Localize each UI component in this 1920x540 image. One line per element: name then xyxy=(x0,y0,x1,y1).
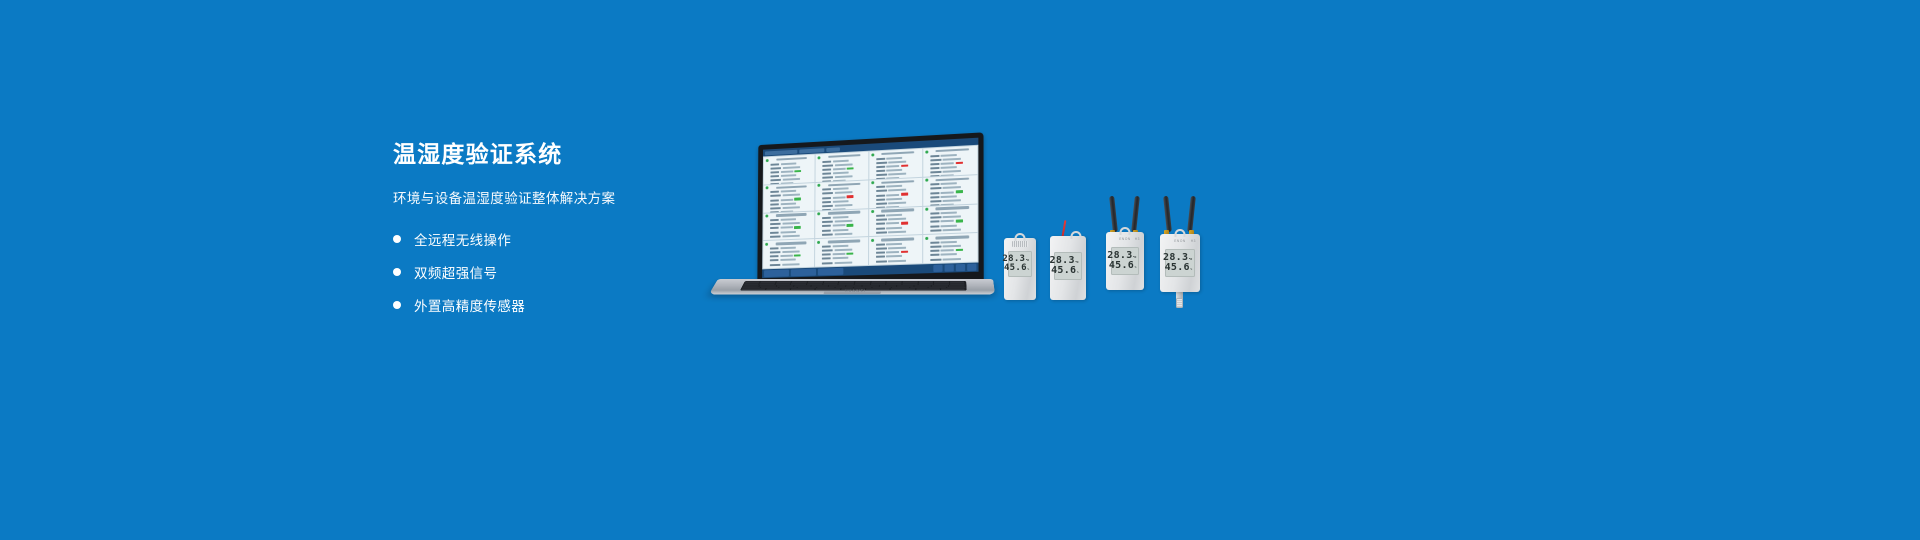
device-body: ENON H3 28.3 ℃ 45.6 % xyxy=(1106,232,1144,290)
lcd-temperature-unit: ℃ xyxy=(1189,258,1192,261)
keyboard-key xyxy=(941,289,965,290)
reading-status-badge xyxy=(956,161,963,164)
reading-value xyxy=(781,162,796,165)
monitor-card[interactable] xyxy=(923,233,978,263)
reading-value xyxy=(886,194,899,197)
keyboard-key xyxy=(916,289,940,290)
monitor-card-readings xyxy=(817,243,865,266)
reading-label xyxy=(876,161,887,164)
reading-status-badge xyxy=(956,190,963,193)
reading-value xyxy=(780,259,795,261)
reading-value xyxy=(782,263,799,266)
monitor-card-title xyxy=(881,209,914,213)
lcd-humidity-unit: % xyxy=(1190,268,1192,271)
reading-value xyxy=(780,246,795,249)
laptop-lid xyxy=(757,132,983,287)
reading-value xyxy=(833,228,849,231)
bullet-dot-icon xyxy=(393,235,401,243)
device-model-label: H3 xyxy=(1106,237,1144,241)
reading-label xyxy=(930,216,941,218)
reading-value xyxy=(782,206,799,209)
monitor-card[interactable] xyxy=(816,180,868,210)
reading-label xyxy=(823,164,834,167)
monitor-card-readings xyxy=(765,217,812,240)
reading-label xyxy=(930,221,939,223)
reading-label xyxy=(822,225,831,227)
reading-label xyxy=(930,196,939,198)
reading-value xyxy=(886,198,902,201)
page-subtitle: 环境与设备温湿度验证整体解决方案 xyxy=(393,187,723,207)
monitor-card-readings xyxy=(871,213,920,237)
reading-label xyxy=(876,256,885,258)
reading-label xyxy=(930,163,939,165)
status-dot-icon xyxy=(871,210,874,213)
reading-label xyxy=(876,227,885,229)
reading-status-badge xyxy=(847,195,854,198)
reading-value xyxy=(886,185,902,188)
reading-label xyxy=(822,262,833,264)
pagination-button[interactable] xyxy=(956,264,965,271)
monitor-card[interactable] xyxy=(923,146,977,177)
reading-label xyxy=(822,233,833,235)
reading-value xyxy=(780,231,795,234)
feature-label: 全远程无线操作 xyxy=(414,229,511,249)
hanging-hook-icon xyxy=(1175,229,1186,237)
monitor-card[interactable] xyxy=(869,178,922,208)
feature-item-sensor: 外置高精度传感器 xyxy=(393,295,723,315)
reading-label xyxy=(930,250,939,252)
reading-label xyxy=(876,231,887,233)
monitor-card[interactable] xyxy=(869,206,922,236)
feature-item-remote: 全远程无线操作 xyxy=(393,229,723,249)
monitor-card-readings xyxy=(925,210,975,234)
reading-value xyxy=(780,174,795,177)
hanging-hook-icon xyxy=(1015,233,1026,241)
monitor-card-title xyxy=(936,206,970,210)
keyboard-key xyxy=(866,289,890,290)
reading-label xyxy=(930,187,941,190)
reading-label xyxy=(930,171,941,174)
antenna-left xyxy=(1163,196,1171,232)
feature-label: 外置高精度传感器 xyxy=(414,295,525,315)
status-dot-icon xyxy=(817,241,820,244)
reading-value xyxy=(832,245,848,248)
reading-label xyxy=(770,255,779,257)
monitor-card[interactable] xyxy=(763,211,814,240)
reading-value xyxy=(834,220,852,223)
reading-label xyxy=(770,231,779,233)
status-dot-icon xyxy=(766,159,769,162)
reading-label xyxy=(770,203,779,205)
monitor-card-readings xyxy=(871,184,920,208)
reading-status-badge xyxy=(794,170,801,173)
reading-value xyxy=(886,222,899,225)
device-model-label: H3 xyxy=(1160,239,1200,243)
reading-value xyxy=(888,247,906,250)
keyboard-key xyxy=(791,289,815,290)
reading-label xyxy=(822,188,831,190)
reading-label xyxy=(822,258,831,260)
pagination-button[interactable] xyxy=(945,265,954,272)
reading-label xyxy=(770,251,781,253)
toolbar-action-button[interactable] xyxy=(764,270,789,277)
reading-label xyxy=(876,198,885,200)
reading-label xyxy=(770,263,781,265)
reading-value xyxy=(835,163,853,166)
reading-value xyxy=(941,253,957,256)
monitor-card-readings xyxy=(925,239,975,263)
reading-value xyxy=(834,232,852,235)
reading-label xyxy=(930,229,941,231)
reading-label xyxy=(822,197,831,199)
reading-label xyxy=(822,245,831,247)
antenna-left xyxy=(1109,196,1117,232)
reading-status-badge xyxy=(901,222,908,225)
reading-value xyxy=(833,224,846,226)
reading-value xyxy=(888,218,906,221)
status-dot-icon xyxy=(818,184,821,187)
lcd-temperature-unit: ℃ xyxy=(1075,261,1078,264)
reading-value xyxy=(782,166,799,169)
reading-value xyxy=(782,178,799,181)
reading-value xyxy=(833,168,846,171)
reading-value xyxy=(888,189,906,192)
reading-label xyxy=(770,207,781,209)
reading-status-badge xyxy=(956,249,963,252)
monitor-card-readings xyxy=(817,215,865,239)
reading-value xyxy=(886,169,902,172)
reading-value xyxy=(782,194,799,197)
monitor-card-readings xyxy=(818,158,866,182)
reading-value xyxy=(832,253,845,255)
reading-value xyxy=(886,243,902,246)
reading-label xyxy=(770,223,781,225)
bullet-dot-icon xyxy=(393,268,401,276)
reading-label xyxy=(876,194,885,196)
monitor-card-title xyxy=(775,241,806,245)
reading-label xyxy=(876,223,885,225)
reading-value xyxy=(941,220,954,223)
reading-value xyxy=(941,249,954,251)
keyboard-key xyxy=(891,289,915,290)
reading-label xyxy=(770,175,779,177)
monitor-card[interactable] xyxy=(869,235,922,265)
reading-status-badge xyxy=(847,224,854,227)
lcd-humidity-value: 45.6 xyxy=(1165,263,1190,273)
reading-status-badge xyxy=(794,226,801,229)
keyboard-key xyxy=(766,289,790,290)
reading-value xyxy=(941,191,954,194)
reading-label xyxy=(930,167,939,169)
reading-label xyxy=(770,199,779,201)
reading-label xyxy=(822,249,833,251)
reading-value xyxy=(941,224,957,227)
device-lcd-display: 28.3 ℃ 45.6 % xyxy=(1054,252,1081,280)
keyboard-key xyxy=(741,289,766,290)
titlebar-menu-chip[interactable] xyxy=(826,147,840,152)
monitor-card[interactable] xyxy=(815,209,867,239)
monitor-card[interactable] xyxy=(763,239,814,268)
reading-label xyxy=(770,191,779,193)
lcd-humidity-line: 45.6 % xyxy=(1114,261,1137,271)
reading-value xyxy=(886,255,902,258)
monitor-card-readings xyxy=(765,189,812,212)
pagination-button[interactable] xyxy=(967,264,976,271)
lcd-humidity-line: 45.6 % xyxy=(1057,266,1078,276)
reading-label xyxy=(822,205,833,207)
reading-value xyxy=(833,159,849,162)
device-probe-logger: 28.3 ℃ 45.6 % xyxy=(1050,236,1086,300)
status-dot-icon xyxy=(871,181,874,184)
reading-label xyxy=(822,253,831,255)
reading-label xyxy=(930,254,939,256)
reading-value xyxy=(782,235,799,238)
device-lcd-display: 28.3 ℃ 45.6 % xyxy=(1111,247,1140,275)
reading-status-badge xyxy=(794,198,801,201)
reading-value xyxy=(782,250,799,253)
reading-value xyxy=(834,249,852,252)
reading-value xyxy=(782,222,799,225)
status-dot-icon xyxy=(925,179,928,182)
reading-value xyxy=(943,157,961,160)
reading-status-badge xyxy=(901,193,908,196)
toolbar-action-button[interactable] xyxy=(818,268,843,275)
monitor-card[interactable] xyxy=(816,152,868,182)
reading-label xyxy=(823,160,832,162)
titlebar-menu-chip[interactable] xyxy=(799,148,824,153)
reading-value xyxy=(886,251,899,253)
lcd-humidity-unit: % xyxy=(1027,268,1029,271)
reading-value xyxy=(941,153,957,156)
reading-label xyxy=(876,157,885,159)
reading-value xyxy=(835,204,853,207)
reading-value xyxy=(834,261,852,264)
reading-status-badge xyxy=(847,252,854,255)
device-body: 28.3 ℃ 45.6 % xyxy=(1050,236,1086,300)
monitor-card-grid xyxy=(762,145,978,270)
reading-value xyxy=(780,227,792,229)
reading-value xyxy=(941,182,957,185)
pagination-button[interactable] xyxy=(933,265,942,272)
reading-value xyxy=(886,214,902,217)
device-dual-antenna-logger-2: ENON H3 28.3 ℃ 45.6 % xyxy=(1160,234,1200,308)
reading-label xyxy=(930,159,941,162)
reading-value xyxy=(780,170,792,173)
reading-value xyxy=(888,259,906,262)
reading-value xyxy=(780,218,795,221)
monitor-card[interactable] xyxy=(923,204,977,234)
reading-value xyxy=(833,200,849,203)
monitor-card[interactable] xyxy=(815,237,867,266)
reading-value xyxy=(833,172,849,175)
device-lcd-display: 28.3 ℃ 45.6 % xyxy=(1008,251,1032,277)
status-dot-icon xyxy=(925,150,928,153)
reading-value xyxy=(943,216,961,219)
monitor-card[interactable] xyxy=(764,183,815,212)
laptop-screen xyxy=(762,138,978,278)
reading-label xyxy=(876,247,887,249)
monitor-card-readings xyxy=(925,152,975,177)
antenna-right xyxy=(1187,196,1195,232)
reading-label xyxy=(822,229,831,231)
lcd-humidity-value: 45.6 xyxy=(1004,264,1027,273)
reading-value xyxy=(833,196,846,199)
reading-label xyxy=(930,183,939,185)
bullet-dot-icon xyxy=(393,301,401,309)
reading-label xyxy=(876,215,885,217)
reading-value xyxy=(941,162,954,165)
status-dot-icon xyxy=(817,212,820,215)
reading-label xyxy=(876,260,887,262)
keyboard-key xyxy=(816,289,840,290)
lcd-humidity-line: 45.6 % xyxy=(1168,263,1192,273)
reading-label xyxy=(770,219,779,221)
status-dot-icon xyxy=(765,243,768,246)
reading-value xyxy=(943,245,961,248)
reading-value xyxy=(941,166,957,169)
monitor-card[interactable] xyxy=(764,155,815,185)
feature-list: 全远程无线操作 双频超强信号 外置高精度传感器 xyxy=(393,229,723,315)
reading-label xyxy=(770,179,780,181)
reading-label xyxy=(822,201,831,203)
laptop-product-image: HUAWEI xyxy=(718,138,993,300)
reading-label xyxy=(930,245,941,247)
status-dot-icon xyxy=(925,208,928,211)
monitor-card-readings xyxy=(818,186,866,210)
bottom-probe-filter-cap xyxy=(1176,298,1183,308)
reading-value xyxy=(833,188,849,191)
laptop-brand-label: HUAWEI xyxy=(845,288,867,293)
reading-label xyxy=(876,170,885,172)
reading-value xyxy=(941,195,957,198)
feature-item-dualband: 双频超强信号 xyxy=(393,262,723,282)
monitor-card-title xyxy=(828,211,860,215)
reading-value xyxy=(780,198,792,201)
reading-label xyxy=(770,247,779,249)
device-compact-logger: 28.3 ℃ 45.6 % xyxy=(1004,238,1036,300)
reading-value xyxy=(888,173,906,176)
device-lcd-display: 28.3 ℃ 45.6 % xyxy=(1165,249,1195,277)
monitor-card[interactable] xyxy=(869,149,922,179)
reading-label xyxy=(771,163,780,165)
hero-banner: 温湿度验证系统 环境与设备温湿度验证整体解决方案 全远程无线操作 双频超强信号 … xyxy=(0,0,1920,540)
monitor-card[interactable] xyxy=(923,175,977,205)
lcd-temperature-unit: ℃ xyxy=(1133,256,1136,259)
reading-label xyxy=(930,225,939,227)
device-body: ENON H3 28.3 ℃ 45.6 % xyxy=(1160,234,1200,292)
monitor-card-title xyxy=(828,239,860,243)
reading-label xyxy=(770,227,779,229)
monitor-card-title xyxy=(775,213,806,217)
reading-label xyxy=(876,243,885,245)
reading-value xyxy=(886,226,902,229)
reading-label xyxy=(876,166,885,168)
reading-label xyxy=(823,168,832,170)
sensor-grille-icon xyxy=(1012,241,1028,247)
reading-value xyxy=(943,257,961,260)
reading-label xyxy=(822,221,833,223)
monitor-card-title xyxy=(881,237,914,241)
hero-text-block: 温湿度验证系统 环境与设备温湿度验证整体解决方案 全远程无线操作 双频超强信号 … xyxy=(393,140,723,328)
reading-label xyxy=(930,200,941,203)
device-body: 28.3 ℃ 45.6 % xyxy=(1004,238,1036,300)
reading-value xyxy=(888,160,906,163)
toolbar-action-button[interactable] xyxy=(791,269,816,276)
status-dot-icon xyxy=(766,187,769,190)
reading-label xyxy=(770,167,780,169)
reading-status-badge xyxy=(956,219,963,222)
antenna-right xyxy=(1131,196,1139,232)
reading-value xyxy=(941,212,957,215)
monitor-card-title xyxy=(936,235,970,239)
reading-label xyxy=(823,176,834,178)
lcd-humidity-unit: % xyxy=(1077,271,1079,274)
reading-label xyxy=(823,172,832,174)
reading-label xyxy=(876,190,887,192)
reading-label xyxy=(770,195,780,197)
reading-value xyxy=(833,216,849,219)
reading-label xyxy=(822,192,833,194)
lcd-temperature-unit: ℃ xyxy=(1026,259,1029,262)
hanging-hook-icon xyxy=(1070,231,1081,239)
monitor-card-readings xyxy=(871,155,920,179)
reading-label xyxy=(930,192,939,194)
reading-value xyxy=(888,230,906,233)
reading-label xyxy=(770,171,779,173)
reading-value xyxy=(780,202,795,205)
reading-label xyxy=(930,258,941,260)
reading-value xyxy=(943,199,961,202)
sensor-device-group: 28.3 ℃ 45.6 % xyxy=(1000,178,1230,308)
hanging-hook-icon xyxy=(1120,227,1131,235)
reading-value xyxy=(886,156,902,159)
reading-label xyxy=(930,154,939,156)
reading-label xyxy=(876,202,887,204)
status-dot-icon xyxy=(925,237,928,240)
lcd-humidity-unit: % xyxy=(1135,266,1137,269)
reading-value xyxy=(886,165,899,168)
reading-label xyxy=(876,252,885,254)
lcd-humidity-value: 45.6 xyxy=(1109,261,1134,271)
reading-value xyxy=(832,257,848,260)
reading-status-badge xyxy=(901,251,908,254)
reading-label xyxy=(930,212,939,214)
reading-value xyxy=(835,176,853,179)
reading-status-badge xyxy=(901,164,908,167)
feature-label: 双频超强信号 xyxy=(414,262,497,282)
reading-label xyxy=(770,259,779,261)
status-dot-icon xyxy=(765,214,768,217)
status-dot-icon xyxy=(871,239,874,242)
toolbar-spacer xyxy=(845,269,931,272)
reading-label xyxy=(876,186,885,188)
page-title: 温湿度验证系统 xyxy=(393,140,723,169)
reading-label xyxy=(770,235,781,237)
status-dot-icon xyxy=(871,153,874,156)
monitor-card-readings xyxy=(871,241,920,265)
device-dual-antenna-logger-1: ENON H3 28.3 ℃ 45.6 % xyxy=(1106,232,1144,290)
reading-value xyxy=(943,170,961,173)
reading-label xyxy=(876,174,887,177)
reading-status-badge xyxy=(847,167,854,170)
reading-value xyxy=(888,202,906,205)
reading-label xyxy=(876,219,887,221)
monitor-card-readings xyxy=(766,161,813,185)
reading-value xyxy=(943,186,961,189)
reading-label xyxy=(822,217,831,219)
reading-value xyxy=(941,241,957,244)
reading-value xyxy=(780,190,795,193)
